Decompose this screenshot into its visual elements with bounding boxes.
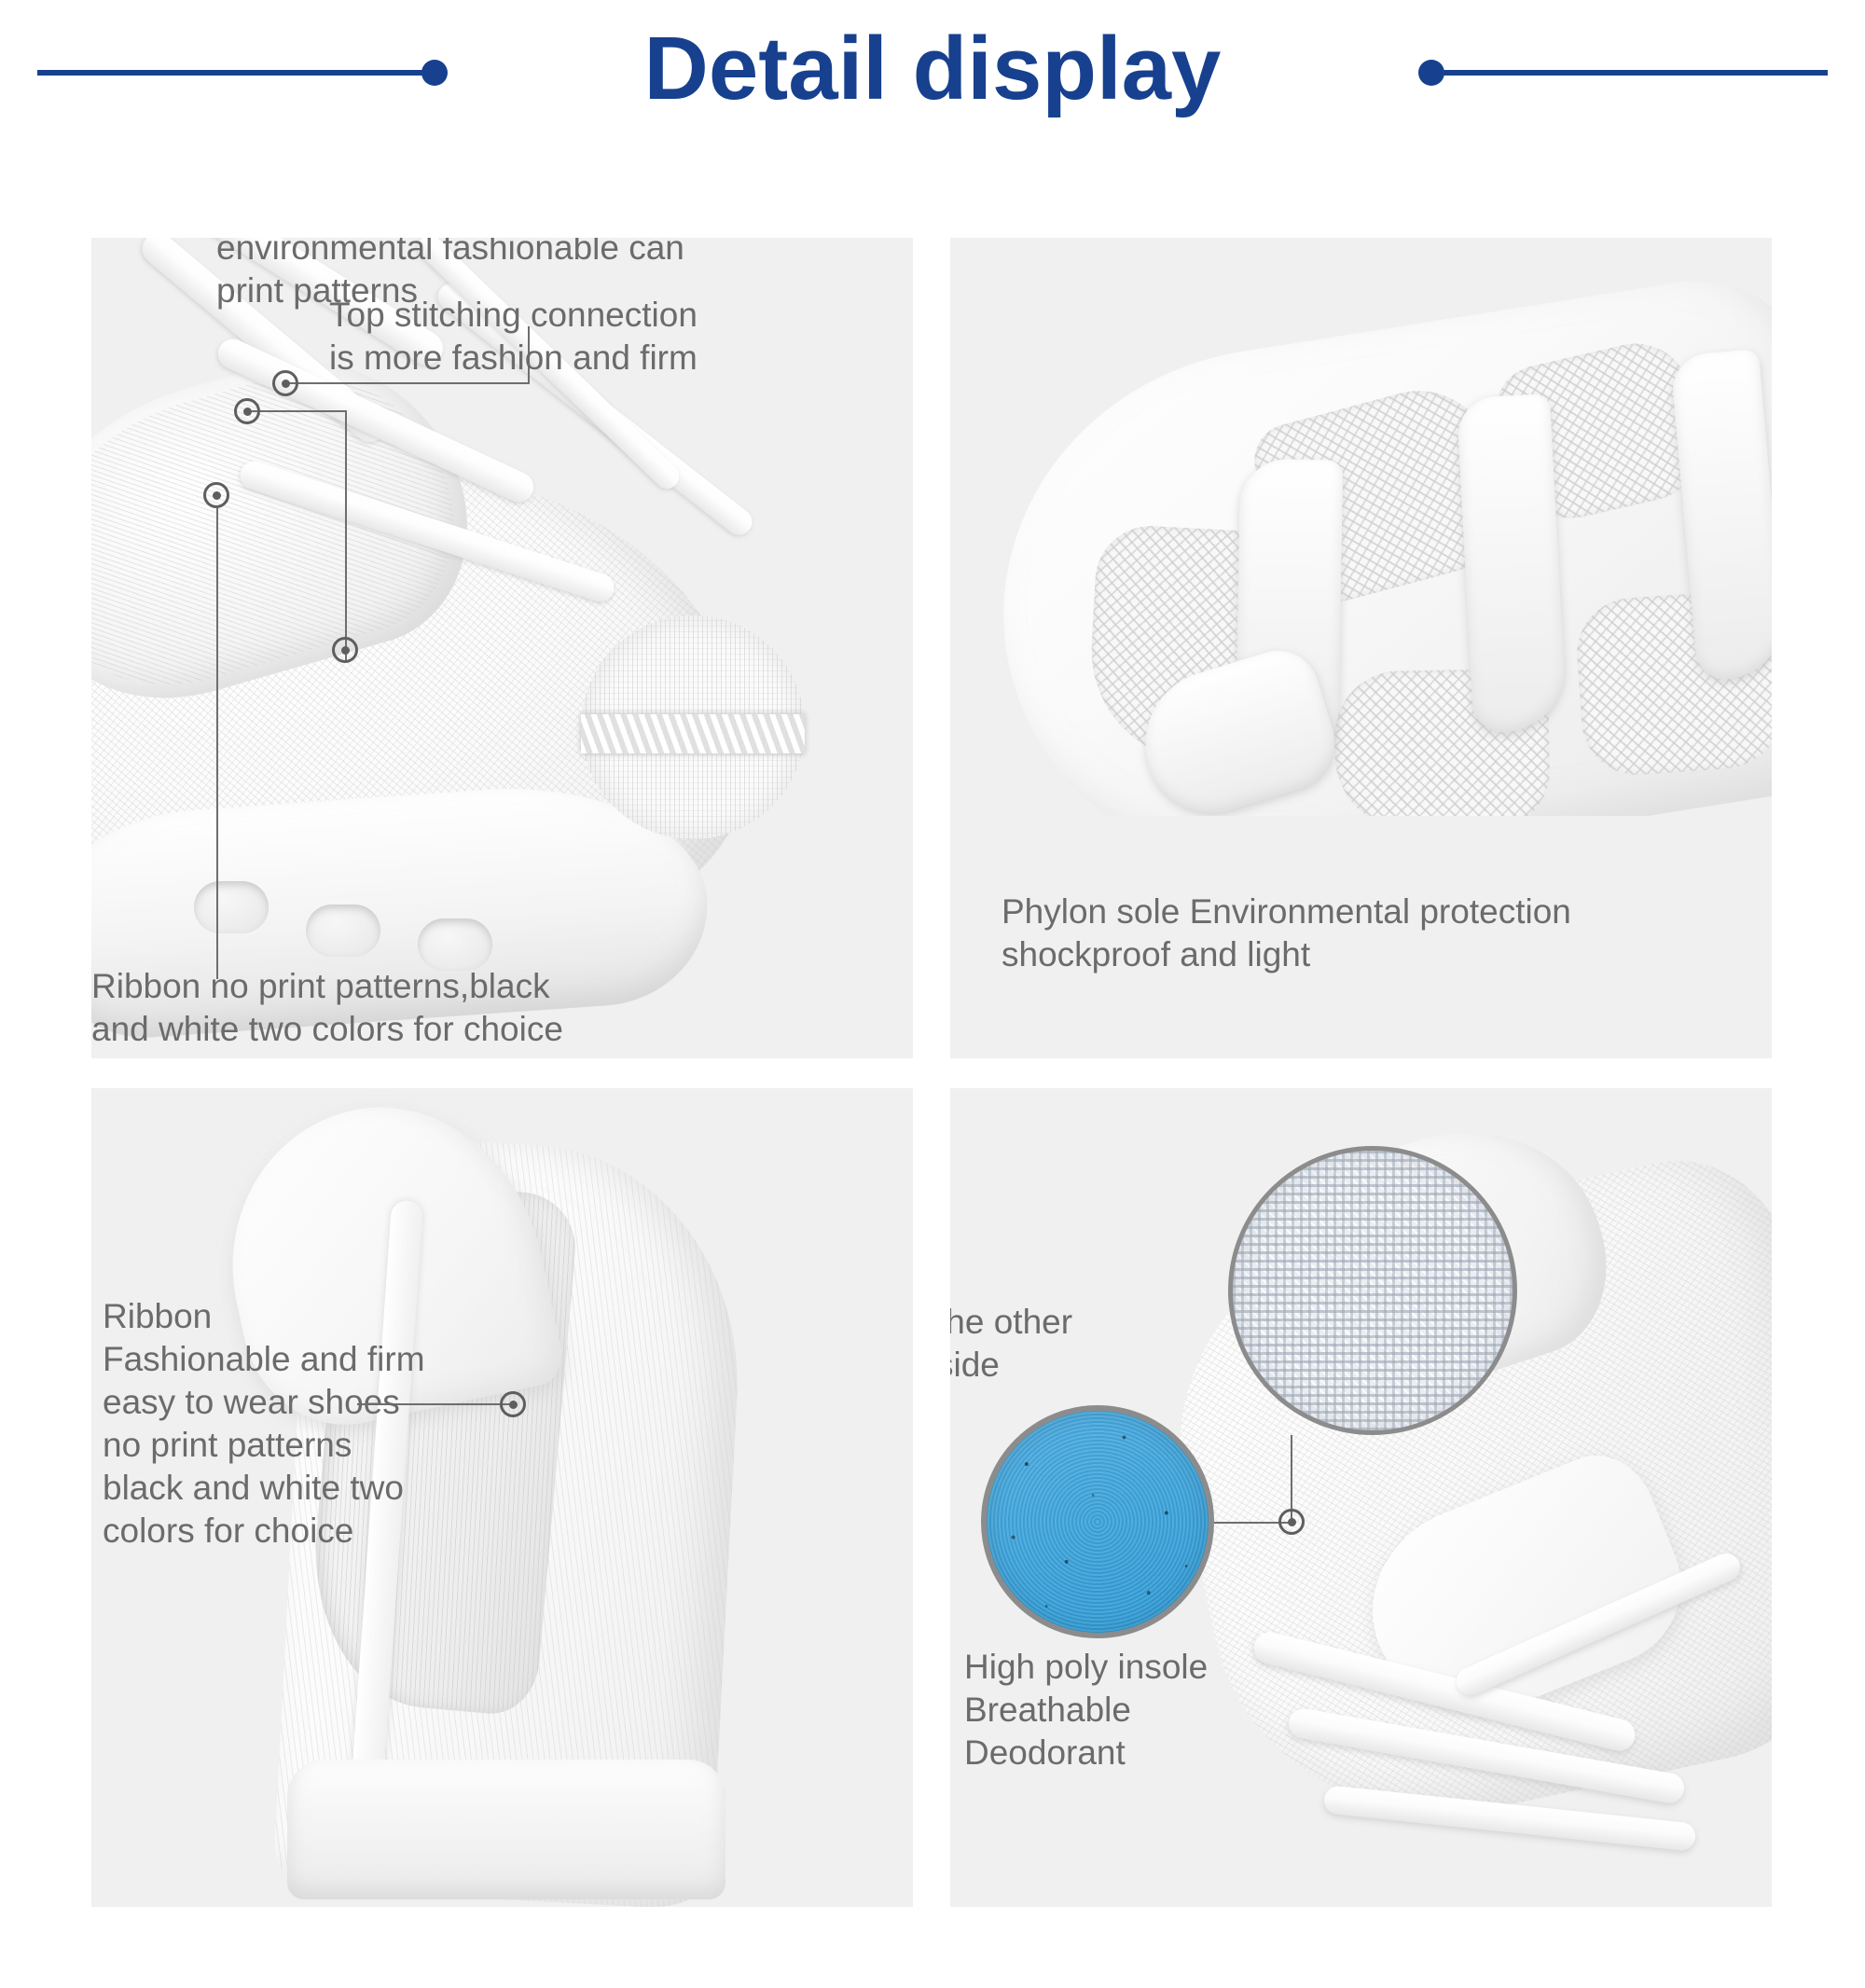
ribbon-note: Ribbon no print patterns,black and white… bbox=[91, 965, 688, 1051]
panel-insole: the other side High poly insole Breathab… bbox=[950, 1088, 1772, 1907]
phylon-sole-note: Phylon sole Environmental protection sho… bbox=[1002, 890, 1748, 976]
connector-line bbox=[247, 410, 345, 412]
connector-line bbox=[345, 410, 347, 485]
callout-marker-upper-mesh[interactable] bbox=[234, 398, 260, 424]
panel-outsole: Phylon sole Environmental protection sho… bbox=[950, 238, 1772, 1058]
top-stitching-note: Top stitching connection is more fashion… bbox=[329, 294, 851, 380]
callout-marker-ribbon[interactable] bbox=[203, 482, 229, 508]
callout-marker-heel-ribbon[interactable] bbox=[500, 1391, 526, 1417]
page-header: Detail display bbox=[0, 0, 1865, 168]
panel-heel-ribbon: Ribbon Fashionable and firm easy to wear… bbox=[91, 1088, 913, 1907]
insole-zoom-circle bbox=[981, 1405, 1214, 1638]
other-side-note: the other side bbox=[950, 1301, 1216, 1387]
connector-line bbox=[216, 508, 218, 974]
outsole-photo bbox=[950, 238, 1772, 816]
callout-marker-lace-eyelet[interactable] bbox=[272, 370, 298, 396]
page-title: Detail display bbox=[0, 13, 1865, 125]
sole-notch bbox=[194, 881, 269, 933]
chevron-rib bbox=[1457, 393, 1568, 734]
header-rule-right bbox=[1431, 70, 1828, 76]
phylon-outsole bbox=[966, 264, 1772, 816]
heel-base bbox=[287, 1760, 725, 1899]
connector-line bbox=[285, 382, 528, 384]
panel-shoe-upper: Upper three layer mesh breathable enviro… bbox=[91, 238, 913, 1058]
callout-marker-insole[interactable] bbox=[1278, 1509, 1305, 1535]
callout-marker-stitching[interactable] bbox=[332, 637, 358, 663]
header-dot-right bbox=[1418, 60, 1444, 86]
sole-notch bbox=[418, 918, 492, 971]
ribbon-fashionable-note: Ribbon Fashionable and firm easy to wear… bbox=[103, 1295, 494, 1553]
connector-line bbox=[345, 476, 347, 662]
mesh-zoom-circle bbox=[1228, 1146, 1517, 1435]
stitching-zoom-circle bbox=[581, 615, 805, 839]
high-poly-insole-note: High poly insole Breathable Deodorant bbox=[964, 1646, 1356, 1774]
sole-notch bbox=[306, 904, 380, 957]
